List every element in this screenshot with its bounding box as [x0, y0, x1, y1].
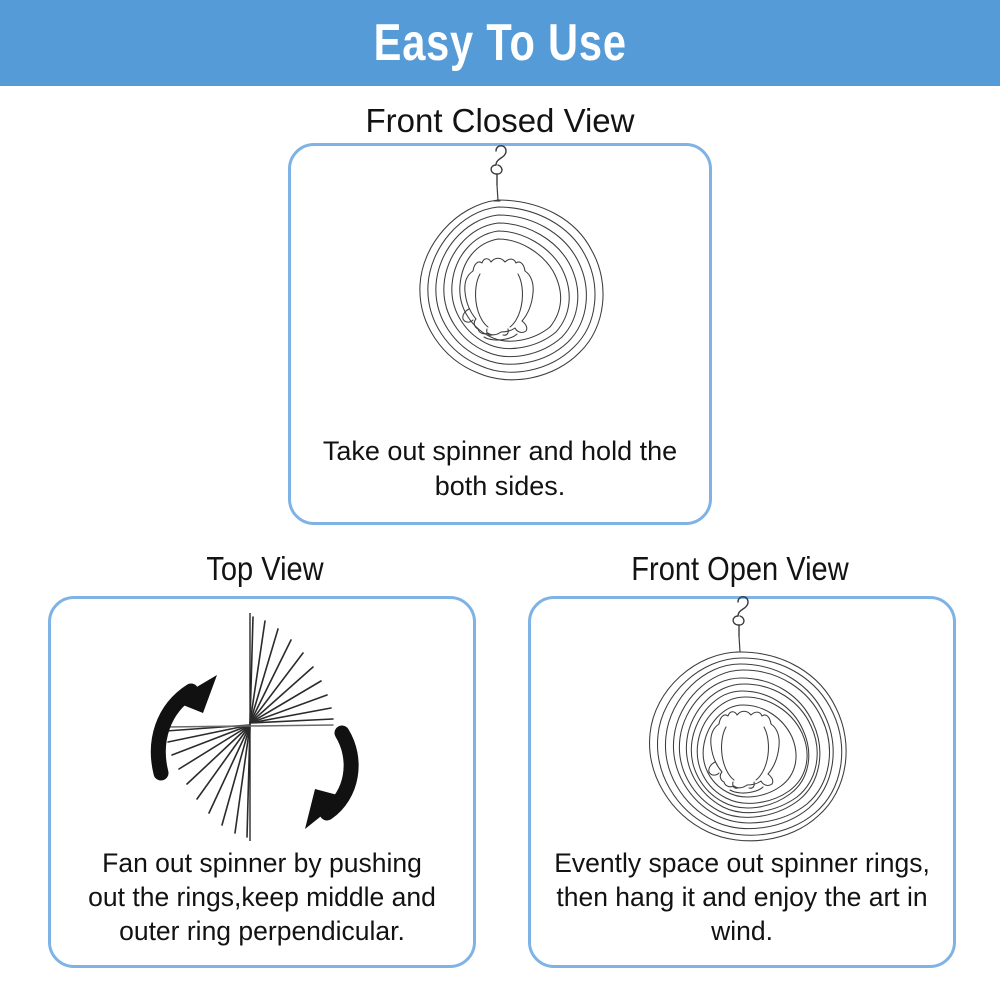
- owl-silhouette: [709, 711, 779, 793]
- card-top-view: Fan out spinner by pushing out the rings…: [48, 596, 476, 968]
- heading-front-open-view: Front Open View: [551, 552, 929, 585]
- owl-silhouette: [463, 258, 533, 340]
- spinner-rings-middle: [679, 678, 819, 817]
- card-front-closed-view: Take out spinner and hold the both sides…: [288, 143, 712, 525]
- hub-axis-line: [166, 725, 333, 727]
- figure-spinner-closed: [291, 141, 709, 411]
- header-banner: Easy To Use: [0, 0, 1000, 86]
- top-view-illustration: [137, 609, 387, 845]
- figure-fanned-rings: [51, 609, 473, 847]
- fanned-rings-lower: [166, 725, 250, 837]
- caption-top-view: Fan out spinner by pushing out the rings…: [67, 847, 457, 949]
- heading-front-closed-view: Front Closed View: [280, 104, 720, 137]
- hook-icon: [733, 597, 748, 636]
- heading-top-view: Top View: [80, 552, 450, 585]
- spinner-rings: [420, 200, 603, 380]
- card-front-open-view: Evently space out spinner rings, then ha…: [528, 596, 956, 968]
- spinner-ring-inner: [703, 705, 796, 797]
- caption-front-open-view: Evently space out spinner rings, then ha…: [547, 847, 937, 949]
- figure-spinner-open: [531, 594, 953, 856]
- rotation-arrow-up: [158, 675, 217, 773]
- wind-spinner-closed-illustration: [370, 141, 630, 413]
- page-title: Easy To Use: [373, 17, 626, 69]
- rotation-arrow-down: [305, 733, 351, 829]
- hook-icon: [491, 146, 506, 185]
- fanned-rings-upper: [250, 617, 333, 723]
- caption-front-closed-view: Take out spinner and hold the both sides…: [307, 434, 693, 503]
- wind-spinner-open-illustration: [606, 594, 878, 858]
